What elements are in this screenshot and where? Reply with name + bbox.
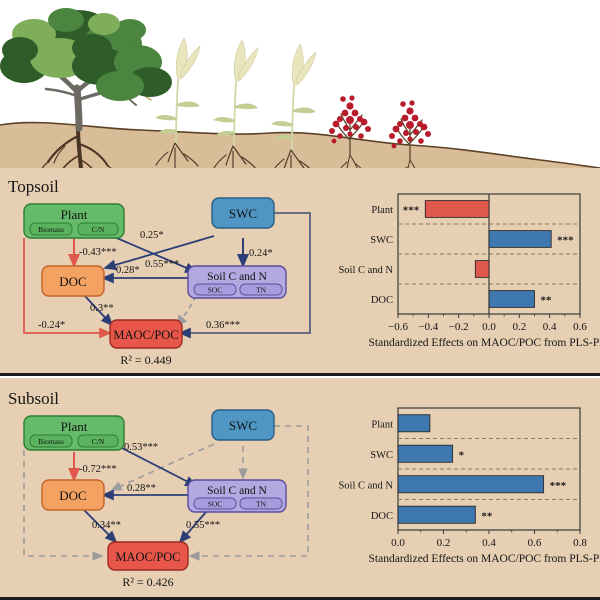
- node-label-soilcn: Soil C and N: [207, 271, 267, 283]
- node-swc-subsoil: SWC: [212, 410, 274, 440]
- significance-doc: **: [481, 511, 493, 523]
- significance-plant: ***: [403, 205, 420, 217]
- xtick-label: 0.2: [512, 321, 526, 333]
- indicator-cn: C/N: [92, 225, 105, 234]
- node-maocpoc-topsoil: MAOC/POC: [110, 320, 182, 348]
- ytick-plant: Plant: [371, 419, 393, 430]
- significance-doc: **: [541, 295, 553, 307]
- xtick-label: 0.8: [573, 537, 587, 549]
- path-label-plant-maocpoc: -0.24*: [38, 320, 65, 331]
- ytick-swc: SWC: [370, 235, 393, 246]
- significance-swc: *: [459, 450, 465, 462]
- indicator-soc: SOC: [208, 286, 223, 295]
- indicator-tn-sub: TN: [256, 500, 267, 509]
- node-maocpoc-subsoil: MAOC/POC: [108, 542, 188, 570]
- bar-swc: [398, 445, 453, 462]
- node-doc-topsoil: DOC: [42, 266, 104, 296]
- xtick-label: 0.2: [437, 537, 451, 549]
- bar-soil-c-and-n: [475, 261, 489, 278]
- node-label-doc-sub: DOC: [59, 488, 86, 503]
- ecosystem-illustration: [0, 0, 600, 185]
- node-soilcn-subsoil: Soil C and N SOC TN: [188, 480, 286, 512]
- node-doc-subsoil: DOC: [42, 480, 104, 510]
- figure-root: Topsoil -0.43*** 0.55*** 0.: [0, 0, 600, 600]
- subsoil-panel: Subsoil -0.72*** 0.53*** 0.28** 0.34** 0…: [0, 378, 600, 600]
- node-soilcn-topsoil: Soil C and N SOC TN: [188, 266, 286, 298]
- indicator-biomass: Biomass: [38, 225, 64, 234]
- node-label-swc-sub: SWC: [229, 418, 257, 433]
- ytick-doc: DOC: [371, 511, 393, 522]
- xtick-label: 0.6: [573, 321, 587, 333]
- xtick-label: 0.0: [391, 537, 405, 549]
- indicator-cn-sub: C/N: [92, 437, 105, 446]
- node-label-swc: SWC: [229, 206, 257, 221]
- panel-divider-top: [0, 373, 600, 376]
- node-label-maocpoc: MAOC/POC: [113, 328, 178, 342]
- path-label-doc-maocpoc: 0.3**: [90, 303, 114, 314]
- topsoil-title: Topsoil: [8, 177, 59, 196]
- topsoil-panel: Topsoil -0.43*** 0.55*** 0.: [0, 168, 600, 373]
- xtick-label: 0.4: [482, 537, 496, 549]
- indicator-soc-sub: SOC: [208, 500, 223, 509]
- r2-label-subsoil: R² = 0.426: [122, 575, 173, 589]
- significance-swc: ***: [557, 235, 574, 247]
- xtick-label: −0.6: [388, 321, 408, 333]
- path-label-plant-soilcn: 0.55***: [145, 259, 179, 270]
- xtick-label: −0.2: [449, 321, 469, 333]
- r2-label-topsoil: R² = 0.449: [120, 353, 171, 367]
- bar-soil-c-and-n: [398, 476, 544, 493]
- bar-doc: [489, 291, 535, 308]
- xtick-label: 0.0: [482, 321, 496, 333]
- bar-swc: [489, 231, 551, 248]
- path-label-plant-doc-sub: -0.72***: [79, 464, 117, 475]
- x-axis-label: Standardized Effects on MAOC/POC from PL…: [369, 337, 600, 349]
- bar-doc: [398, 506, 475, 523]
- ytick-plant: Plant: [371, 205, 393, 216]
- node-swc-topsoil: SWC: [212, 198, 274, 228]
- xtick-label: 0.4: [543, 321, 557, 333]
- indicator-tn: TN: [256, 286, 267, 295]
- path-label-plant-soilcn-sub: 0.53***: [124, 442, 158, 453]
- path-label-swc-maocpoc: 0.36***: [206, 320, 240, 331]
- node-label-plant-sub: Plant: [61, 419, 88, 434]
- path-label-doc-maocpoc-sub: 0.34**: [92, 520, 121, 531]
- node-label-maocpoc-sub: MAOC/POC: [115, 550, 180, 564]
- path-label-swc-doc: 0.25*: [140, 230, 164, 241]
- xtick-label: −0.4: [418, 321, 438, 333]
- xtick-label: 0.6: [528, 537, 542, 549]
- indicator-biomass-sub: Biomass: [38, 437, 64, 446]
- node-label-plant: Plant: [61, 207, 88, 222]
- node-plant-topsoil: Plant Biomass C/N: [24, 204, 124, 238]
- path-label-swc-soilcn: 0.24*: [249, 248, 273, 259]
- subsoil-title: Subsoil: [8, 389, 59, 408]
- path-label-plant-doc: -0.43***: [79, 247, 117, 258]
- x-axis-label: Standardized Effects on MAOC/POC from PL…: [369, 553, 600, 565]
- bar-plant: [398, 415, 430, 432]
- path-label-soilcn-maocpoc-sub: 0.55***: [186, 520, 220, 531]
- path-label-soilcn-doc-sub: 0.28**: [127, 483, 156, 494]
- node-plant-subsoil: Plant Biomass C/N: [24, 416, 124, 450]
- path-label-soilcn-doc: 0.28*: [116, 265, 140, 276]
- ytick-soil-c-and-n: Soil C and N: [338, 480, 393, 491]
- ytick-soil-c-and-n: Soil C and N: [338, 265, 393, 276]
- ytick-doc: DOC: [371, 295, 393, 306]
- significance-soil-c-and-n: ***: [550, 480, 567, 492]
- node-label-doc: DOC: [59, 274, 86, 289]
- bar-plant: [425, 201, 489, 218]
- node-label-soilcn-sub: Soil C and N: [207, 485, 267, 497]
- ytick-swc: SWC: [370, 450, 393, 461]
